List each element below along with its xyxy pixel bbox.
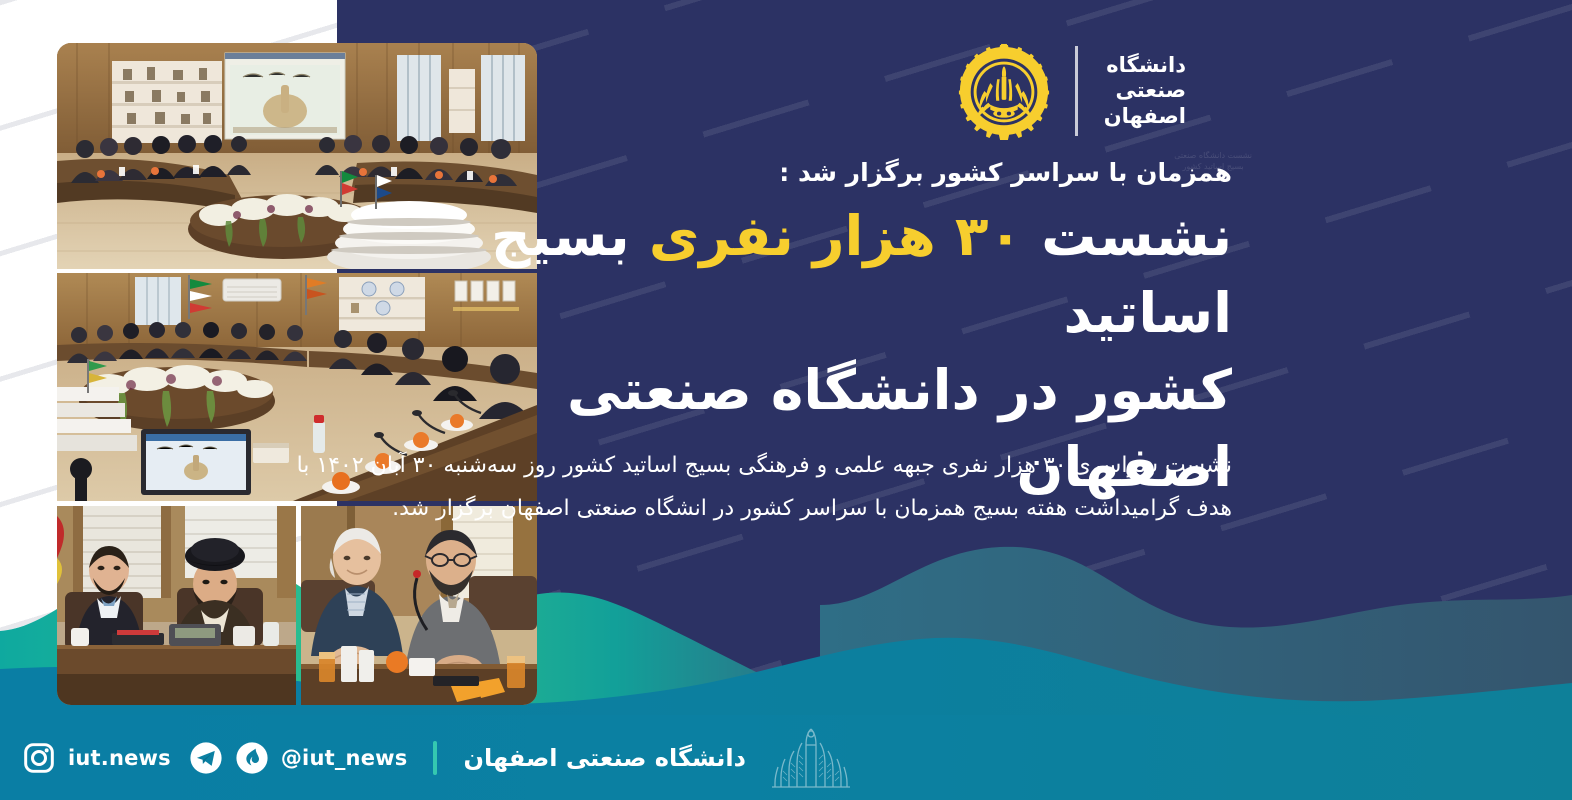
messenger-handle[interactable]: @iut_news <box>281 746 408 770</box>
photo-br-scene <box>301 506 537 705</box>
logo-line-1: دانشگاه <box>1104 53 1186 79</box>
footer-divider <box>433 741 437 775</box>
poster-canvas: دانشگاه صنعتی اصفهان <box>0 0 1572 800</box>
photo-speakers-cleric <box>57 506 296 705</box>
university-logo-block: دانشگاه صنعتی اصفهان <box>955 42 1186 140</box>
footer-content: iut.news @iut_news دانشگاه صنعتی اصفهان <box>0 715 850 800</box>
footer-university-name: دانشگاه صنعتی اصفهان <box>463 744 745 772</box>
headline-line1-part-a: نشست <box>1041 204 1232 268</box>
logo-divider <box>1075 46 1078 136</box>
body-paragraph: نشست سراسری ۳۰ هزار نفری جبهه علمی و فره… <box>262 445 1232 531</box>
telegram-icon[interactable] <box>189 741 223 775</box>
bale-icon[interactable] <box>235 741 269 775</box>
logo-line-3: اصفهان <box>1104 104 1186 130</box>
iut-gear-emblem-icon <box>955 42 1053 140</box>
photo-speakers-two-men <box>301 506 537 705</box>
headline-kicker: همزمان با سراسر کشور برگزار شد : <box>779 158 1232 187</box>
instagram-icon[interactable] <box>22 741 56 775</box>
university-logo-wordmark: دانشگاه صنعتی اصفهان <box>1082 53 1186 130</box>
instagram-handle[interactable]: iut.news <box>68 746 171 770</box>
headline-line1-highlight: ۳۰ هزار نفری <box>649 204 1022 268</box>
photo-bl-scene <box>57 506 296 705</box>
logo-line-2: صنعتی <box>1104 78 1186 104</box>
university-gate-icon <box>772 725 850 791</box>
footer-bar: iut.news @iut_news دانشگاه صنعتی اصفهان <box>0 715 1572 800</box>
